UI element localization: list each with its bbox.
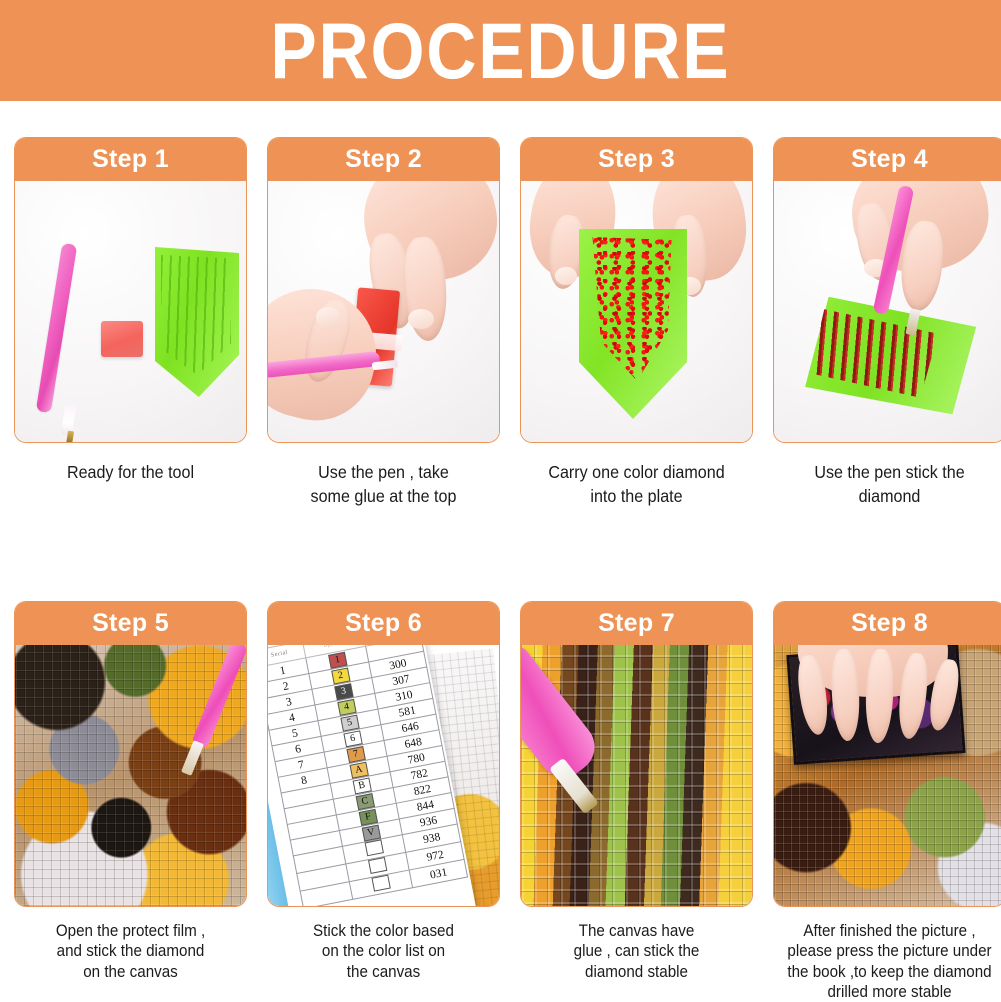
- fingernail-icon: [408, 309, 434, 329]
- step-cell-7: Step 7 The canvas have glue , can stick …: [520, 601, 753, 1002]
- symbol-swatch: [371, 875, 390, 892]
- step-7-photo: [521, 645, 752, 906]
- steps-row-2: Step 5 Open the protect film , and stick…: [0, 601, 1001, 1002]
- step-card-6-header: Step 6: [268, 602, 499, 645]
- step-caption-7: The canvas have glue , can stick the dia…: [529, 921, 743, 981]
- procedure-steps-grid: Step 1 Ready for the tool: [0, 101, 1001, 1002]
- fingernail-icon: [316, 307, 340, 327]
- step-card-3-header: Step 3: [521, 138, 752, 181]
- step-card-1: Step 1: [14, 137, 247, 443]
- step-card-8: Step 8: [773, 601, 1001, 907]
- step-card-7-header: Step 7: [521, 602, 752, 645]
- step-card-4: Step 4: [773, 137, 1001, 443]
- step-card-7-image: [521, 645, 752, 906]
- step-card-4-header: Step 4: [774, 138, 1001, 181]
- step-card-2-header: Step 2: [268, 138, 499, 181]
- step-6-photo: Serial Symbol DMC 11 22300 33307 44: [268, 645, 499, 906]
- page-title: PROCEDURE: [270, 11, 730, 90]
- step-cell-5: Step 5 Open the protect film , and stick…: [14, 601, 247, 1002]
- glue-clay-icon: [101, 321, 143, 357]
- symbol-swatch: [364, 840, 383, 857]
- step-card-5-image: [15, 645, 246, 906]
- step-cell-8: Step 8 After fi: [773, 601, 1001, 1002]
- sunflower-canvas-mosaic-icon: [15, 645, 246, 906]
- step-card-2-image: [268, 181, 499, 442]
- step-caption-5: Open the protect film , and stick the di…: [23, 921, 237, 981]
- step-card-7: Step 7: [520, 601, 753, 907]
- step-caption-4: Use the pen stick the diamond: [782, 461, 996, 508]
- step-cell-6: Step 6 Serial Symbol DMC: [267, 601, 500, 1002]
- step-card-2: Step 2: [267, 137, 500, 443]
- step-1-photo: [15, 181, 246, 442]
- step-card-8-image: [774, 645, 1001, 906]
- step-card-6: Step 6 Serial Symbol DMC: [267, 601, 500, 907]
- step-card-5-header: Step 5: [15, 602, 246, 645]
- step-4-photo: [774, 181, 1001, 442]
- step-card-6-image: Serial Symbol DMC 11 22300 33307 44: [268, 645, 499, 906]
- symbol-swatch: [368, 857, 387, 874]
- step-caption-2: Use the pen , take some glue at the top: [276, 461, 490, 508]
- step-card-1-image: [15, 181, 246, 442]
- step-cell-3: Step 3 Carry one color diamond: [520, 137, 753, 508]
- step-cell-4: Step 4 Use the pen stick the d: [773, 137, 1001, 508]
- step-caption-3: Carry one color diamond into the plate: [529, 461, 743, 508]
- steps-row-1: Step 1 Ready for the tool: [0, 137, 1001, 508]
- step-card-3-image: [521, 181, 752, 442]
- step-caption-8: After finished the picture , please pres…: [782, 921, 996, 1002]
- fingernail-icon: [555, 267, 577, 285]
- step-card-5: Step 5: [14, 601, 247, 907]
- step-cell-1: Step 1 Ready for the tool: [14, 137, 247, 508]
- step-card-3: Step 3: [520, 137, 753, 443]
- step-caption-6: Stick the color based on the color list …: [276, 921, 490, 981]
- step-card-4-image: [774, 181, 1001, 442]
- step-5-photo: [15, 645, 246, 906]
- step-8-photo: [774, 645, 1001, 906]
- step-card-1-header: Step 1: [15, 138, 246, 181]
- step-card-8-header: Step 8: [774, 602, 1001, 645]
- step-3-photo: [521, 181, 752, 442]
- page-header-banner: PROCEDURE: [0, 0, 1001, 101]
- step-cell-2: Step 2: [267, 137, 500, 508]
- step-2-photo: [268, 181, 499, 442]
- step-caption-1: Ready for the tool: [23, 461, 237, 485]
